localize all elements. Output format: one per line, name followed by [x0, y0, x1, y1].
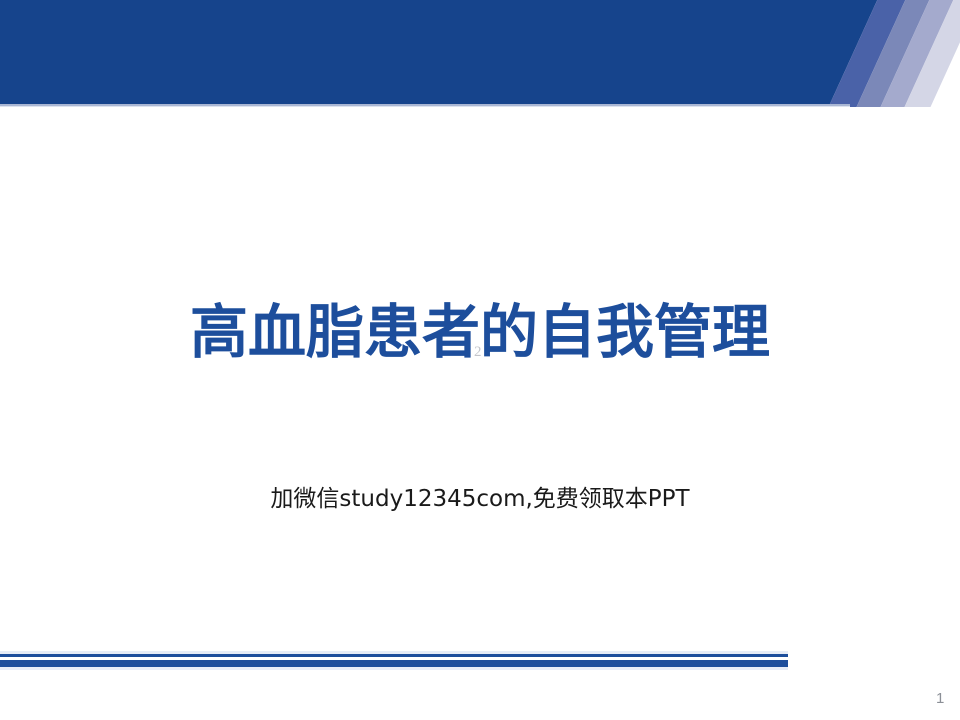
footer-rule-halo-bottom — [0, 667, 788, 670]
header-banner-main-shape — [0, 0, 880, 107]
header-banner — [0, 0, 960, 107]
header-underline-soft — [0, 106, 850, 107]
footer-rule-thick — [0, 660, 788, 667]
subtitle-block: 加微信study12345com,免费领取本PPT — [0, 479, 960, 513]
page-number: 1 — [936, 690, 944, 707]
page-subtitle: 加微信study12345com,免费领取本PPT — [270, 479, 689, 513]
title-block: 高血脂患者的自我管理 — [0, 300, 960, 365]
page-title: 高血脂患者的自我管理 — [190, 300, 770, 365]
slide-canvas: 高血脂患者的自我管理 2 加微信study12345com,免费领取本PPT 1 — [0, 0, 960, 720]
